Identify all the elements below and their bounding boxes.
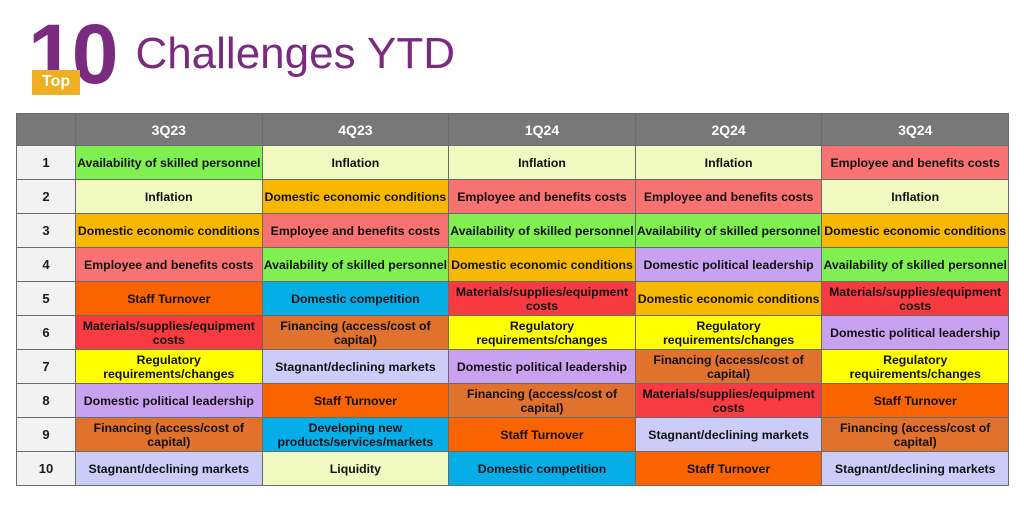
challenge-cell: Employee and benefits costs [449,180,636,214]
challenge-label: Domestic economic conditions [263,190,449,204]
challenge-label: Stagnant/declining markets [263,360,449,374]
challenge-label: Staff Turnover [822,394,1008,408]
challenge-label: Materials/supplies/equipment costs [636,387,822,415]
challenge-cell: Availability of skilled personnel [262,248,449,282]
column-header-4q23: 4Q23 [262,114,449,146]
challenge-cell: Inflation [635,146,822,180]
rank-cell: 6 [17,316,76,350]
challenge-cell: Financing (access/cost of capital) [635,350,822,384]
challenge-cell: Regulatory requirements/changes [822,350,1009,384]
challenge-cell: Domestic political leadership [76,384,263,418]
table-row: 5Staff TurnoverDomestic competitionMater… [17,282,1009,316]
rank-cell: 1 [17,146,76,180]
challenge-label: Inflation [822,190,1008,204]
challenge-label: Financing (access/cost of capital) [263,319,449,347]
challenge-cell: Staff Turnover [449,418,636,452]
challenge-label: Employee and benefits costs [449,190,635,204]
challenge-cell: Availability of skilled personnel [635,214,822,248]
challenge-cell: Materials/supplies/equipment costs [822,282,1009,316]
challenge-label: Domestic political leadership [449,360,635,374]
top-badge: Top [32,70,80,95]
challenge-cell: Inflation [822,180,1009,214]
challenge-cell: Financing (access/cost of capital) [262,316,449,350]
challenge-cell: Inflation [262,146,449,180]
header-corner-cell [17,114,76,146]
rank-cell: 3 [17,214,76,248]
challenge-label: Stagnant/declining markets [76,462,262,476]
challenge-cell: Domestic competition [449,452,636,486]
column-header-1q24: 1Q24 [449,114,636,146]
challenge-label: Staff Turnover [636,462,822,476]
table-row: 2InflationDomestic economic conditionsEm… [17,180,1009,214]
challenge-cell: Staff Turnover [822,384,1009,418]
challenge-label: Staff Turnover [76,292,262,306]
challenge-label: Materials/supplies/equipment costs [449,285,635,313]
challenge-label: Stagnant/declining markets [822,462,1008,476]
challenge-cell: Stagnant/declining markets [822,452,1009,486]
challenge-label: Financing (access/cost of capital) [636,353,822,381]
challenge-cell: Domestic economic conditions [262,180,449,214]
challenge-label: Domestic political leadership [822,326,1008,340]
challenge-cell: Domestic economic conditions [822,214,1009,248]
challenge-cell: Inflation [76,180,263,214]
challenge-label: Employee and benefits costs [263,224,449,238]
rank-cell: 4 [17,248,76,282]
challenge-label: Availability of skilled personnel [263,258,449,272]
rank-cell: 2 [17,180,76,214]
table-row: 10Stagnant/declining marketsLiquidityDom… [17,452,1009,486]
challenge-cell: Domestic political leadership [635,248,822,282]
challenge-cell: Domestic competition [262,282,449,316]
challenge-label: Stagnant/declining markets [636,428,822,442]
challenge-cell: Financing (access/cost of capital) [76,418,263,452]
table-row: 9Financing (access/cost of capital)Devel… [17,418,1009,452]
challenge-label: Inflation [449,156,635,170]
challenge-label: Inflation [263,156,449,170]
challenge-label: Domestic economic conditions [636,292,822,306]
challenge-label: Financing (access/cost of capital) [822,421,1008,449]
challenge-label: Domestic competition [449,462,635,476]
challenge-cell: Staff Turnover [262,384,449,418]
challenge-cell: Financing (access/cost of capital) [822,418,1009,452]
challenge-cell: Stagnant/declining markets [262,350,449,384]
challenge-label: Regulatory requirements/changes [636,319,822,347]
challenge-label: Staff Turnover [449,428,635,442]
challenge-label: Materials/supplies/equipment costs [76,319,262,347]
challenge-label: Availability of skilled personnel [76,156,262,170]
challenge-cell: Materials/supplies/equipment costs [449,282,636,316]
challenge-label: Financing (access/cost of capital) [76,421,262,449]
challenge-label: Employee and benefits costs [822,156,1008,170]
table-row: 3Domestic economic conditionsEmployee an… [17,214,1009,248]
challenge-cell: Availability of skilled personnel [76,146,263,180]
challenge-label: Regulatory requirements/changes [822,353,1008,381]
rank-cell: 8 [17,384,76,418]
challenge-label: Availability of skilled personnel [636,224,822,238]
challenge-label: Regulatory requirements/changes [449,319,635,347]
challenge-label: Liquidity [263,462,449,476]
challenge-cell: Financing (access/cost of capital) [449,384,636,418]
challenge-cell: Staff Turnover [76,282,263,316]
challenge-cell: Regulatory requirements/changes [449,316,636,350]
challenge-cell: Regulatory requirements/changes [76,350,263,384]
table-row: 6Materials/supplies/equipment costsFinan… [17,316,1009,350]
table-body: 1Availability of skilled personnelInflat… [17,146,1009,486]
challenge-label: Regulatory requirements/changes [76,353,262,381]
challenge-cell: Availability of skilled personnel [449,214,636,248]
challenge-cell: Developing new products/services/markets [262,418,449,452]
column-header-3q24: 3Q24 [822,114,1009,146]
challenge-label: Domestic competition [263,292,449,306]
challenge-cell: Liquidity [262,452,449,486]
challenge-label: Availability of skilled personnel [449,224,635,238]
title-block: 10 Top Challenges YTD [28,10,455,98]
challenge-cell: Materials/supplies/equipment costs [76,316,263,350]
challenge-label: Developing new products/services/markets [263,421,449,449]
rank-cell: 9 [17,418,76,452]
rank-cell: 7 [17,350,76,384]
rank-cell: 10 [17,452,76,486]
challenge-cell: Domestic political leadership [822,316,1009,350]
challenge-label: Staff Turnover [263,394,449,408]
table-head: 3Q23 4Q23 1Q24 2Q24 3Q24 [17,114,1009,146]
challenge-cell: Employee and benefits costs [262,214,449,248]
column-header-3q23: 3Q23 [76,114,263,146]
challenge-cell: Regulatory requirements/changes [635,316,822,350]
table-row: 8Domestic political leadershipStaff Turn… [17,384,1009,418]
challenge-cell: Employee and benefits costs [822,146,1009,180]
header-row: 3Q23 4Q23 1Q24 2Q24 3Q24 [17,114,1009,146]
challenge-cell: Inflation [449,146,636,180]
challenge-cell: Staff Turnover [635,452,822,486]
ranking-table: 3Q23 4Q23 1Q24 2Q24 3Q24 1Availability o… [16,113,1009,486]
challenge-label: Availability of skilled personnel [822,258,1008,272]
challenge-label: Employee and benefits costs [636,190,822,204]
challenge-label: Materials/supplies/equipment costs [822,285,1008,313]
challenge-cell: Stagnant/declining markets [76,452,263,486]
challenge-label: Inflation [636,156,822,170]
challenge-label: Domestic economic conditions [76,224,262,238]
challenge-cell: Domestic economic conditions [635,282,822,316]
challenge-cell: Employee and benefits costs [635,180,822,214]
challenge-label: Employee and benefits costs [76,258,262,272]
slide-root: 10 Top Challenges YTD 3Q23 4Q23 1Q24 2Q2… [0,0,1024,508]
challenge-label: Domestic economic conditions [822,224,1008,238]
challenge-cell: Stagnant/declining markets [635,418,822,452]
challenge-label: Financing (access/cost of capital) [449,387,635,415]
challenge-label: Inflation [76,190,262,204]
page-title: Challenges YTD [135,10,455,98]
challenge-cell: Domestic political leadership [449,350,636,384]
rank-cell: 5 [17,282,76,316]
challenge-label: Domestic political leadership [76,394,262,408]
challenge-cell: Domestic economic conditions [76,214,263,248]
challenge-cell: Materials/supplies/equipment costs [635,384,822,418]
challenge-cell: Domestic economic conditions [449,248,636,282]
ranking-table-wrap: 3Q23 4Q23 1Q24 2Q24 3Q24 1Availability o… [16,113,1009,486]
challenge-cell: Employee and benefits costs [76,248,263,282]
challenge-cell: Availability of skilled personnel [822,248,1009,282]
column-header-2q24: 2Q24 [635,114,822,146]
table-row: 1Availability of skilled personnelInflat… [17,146,1009,180]
challenge-label: Domestic political leadership [636,258,822,272]
big-number-holder: 10 Top [28,10,115,98]
challenge-label: Domestic economic conditions [449,258,635,272]
table-row: 7Regulatory requirements/changesStagnant… [17,350,1009,384]
table-row: 4Employee and benefits costsAvailability… [17,248,1009,282]
